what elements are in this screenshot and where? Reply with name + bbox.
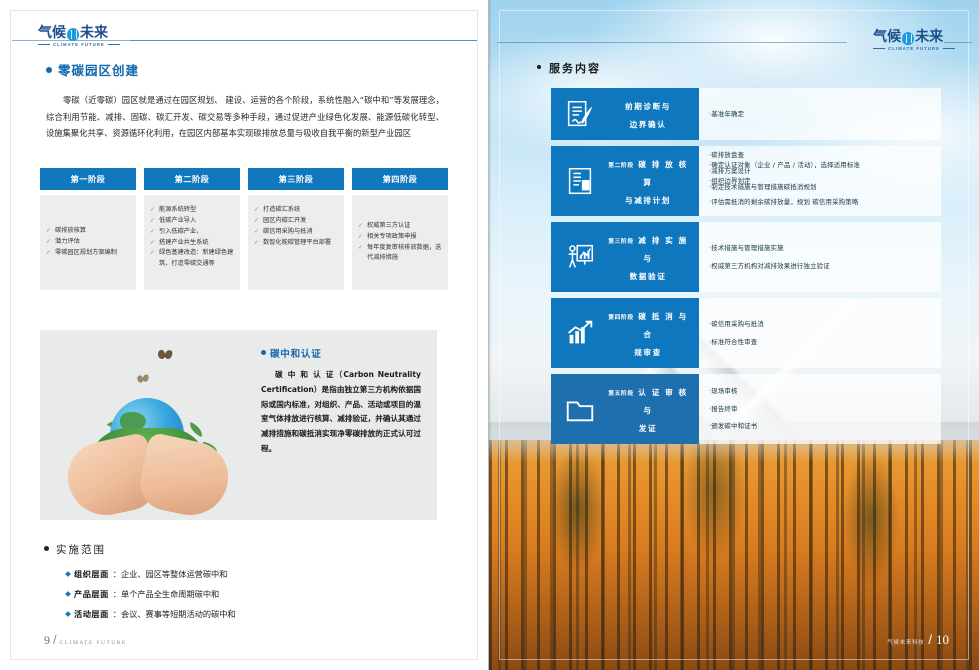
stage-item-text: 碳信用采购与抵消 <box>263 227 313 238</box>
stage-list-item: ✓绿色基建改造：新建绿色建筑、打造零碳交通等 <box>150 248 234 270</box>
process-row-header: 第五阶段 认 证 审 核 与 发证 <box>551 374 699 444</box>
process-stage-label: 第五阶段 <box>608 391 634 397</box>
process-bullet: ·减排方案设计 <box>709 167 931 177</box>
check-icon: ✓ <box>254 205 259 216</box>
stage-item-text: 零碳园区规划方案编制 <box>55 248 117 259</box>
stage-column-3: 第三阶段 ✓打造碳汇系统 ✓园区内碳汇开发 ✓碳信用采购与抵消 ✓数智化能碳管理… <box>248 168 344 290</box>
process-bullet: ·权威第三方机构对减排效果进行独立验证 <box>709 260 931 272</box>
process-row-header: 第二阶段 碳 排 放 核 算 与减排计划 <box>551 146 699 216</box>
logo-mark: 气候 未来 <box>873 30 955 44</box>
scope-list-item: 活动层面：会议、赛事等短期活动的碳中和 <box>66 608 236 620</box>
stage-list-item: ✓潜力评估 <box>46 237 130 248</box>
scope-item-text: ：会议、赛事等短期活动的碳中和 <box>113 608 236 620</box>
right-page: 气候 未来 CLIMATE FUTURE 服务内容 <box>489 0 979 670</box>
stage-item-text: 碳排放核算 <box>55 226 86 237</box>
scope-list: 组织层面：企业、园区等整体运营碳中和 产品层面：单个产品全生命周期碳中和 活动层… <box>66 568 236 628</box>
check-icon: ✓ <box>254 216 259 227</box>
process-bullet: ·现场审核 <box>709 385 931 397</box>
globe-icon <box>67 28 79 41</box>
process-row-labels: 前期诊断与 边界确认 <box>605 96 691 132</box>
page-number: 10 <box>936 632 949 648</box>
check-icon: ✓ <box>46 226 51 237</box>
process-bullet: ·颁发碳中和证书 <box>709 420 931 432</box>
stage-header: 第四阶段 <box>352 168 448 190</box>
check-icon: ✓ <box>150 216 155 227</box>
bullet-dot-icon <box>44 546 49 551</box>
process-row: 第二阶段 碳 排 放 核 算 与减排计划 ·碳排放盘查 ·确定认证对象（企业 /… <box>551 146 941 216</box>
stage-item-text: 相关专项政策申报 <box>367 232 417 243</box>
process-stage-label: 第二阶段 <box>608 163 634 169</box>
process-name-label: 认 证 审 核 与 发证 <box>638 388 688 433</box>
process-list: 前期诊断与 边界确认 ·基准年确定 <box>551 88 941 450</box>
check-icon: ✓ <box>46 237 51 248</box>
process-name-label: 前期诊断与 边界确认 <box>625 102 671 129</box>
bullet-dot-icon <box>46 67 52 73</box>
hands-shape <box>68 424 228 514</box>
right-palm-shape <box>135 432 235 520</box>
carbon-neutrality-title-text: 碳中和认证 <box>270 349 322 360</box>
process-row-header: 第四阶段 碳 抵 消 与 合 规审查 <box>551 298 699 368</box>
stage-item-text: 搭建产业共生系统 <box>159 238 209 249</box>
stage-list-item: ✓相关专项政策申报 <box>358 232 442 243</box>
stage-header: 第二阶段 <box>144 168 240 190</box>
process-bullet: ·碳排放盘查 <box>709 151 931 161</box>
diamond-bullet-icon <box>65 591 71 597</box>
butterfly-icon <box>158 350 172 360</box>
scope-item-text: ：单个产品全生命周期碳中和 <box>113 588 219 600</box>
process-bullet: ·制定技术措施与管理措施碳抵消规划 <box>709 183 931 193</box>
logo-text-cn-b: 未来 <box>915 30 943 44</box>
stage-body: ✓能源系统转型 ✓低碳产业导入 ✓引入低碳产业， ✓搭建产业共生系统 ✓绿色基建… <box>144 195 240 290</box>
stage-columns: 第一阶段 ✓碳排放核算 ✓潜力评估 ✓零碳园区规划方案编制 第二阶段 ✓能源系统… <box>40 168 448 290</box>
process-row-details: ·现场审核 ·报告终审 ·颁发碳中和证书 <box>699 374 941 444</box>
calculator-icon <box>563 164 597 198</box>
scope-list-item: 产品层面：单个产品全生命周期碳中和 <box>66 588 236 600</box>
process-row-details: ·基准年确定 <box>699 88 941 140</box>
header-rule-left-2 <box>130 40 477 41</box>
brand-logo-right: 气候 未来 CLIMATE FUTURE <box>873 30 955 51</box>
logo-mark: 气候 未来 <box>38 26 120 40</box>
stage-list-item: ✓低碳产业导入 <box>150 216 234 227</box>
check-icon: ✓ <box>358 221 363 232</box>
hands-earth-illustration <box>40 330 255 520</box>
process-bullet: ·评估需抵消的剩余碳排放量，规划 碳信用采购策略 <box>709 198 931 208</box>
stage-item-text: 能源系统转型 <box>159 205 196 216</box>
presentation-chart-person-icon <box>563 240 597 274</box>
stage-header: 第一阶段 <box>40 168 136 190</box>
stage-list-item: ✓能源系统转型 <box>150 205 234 216</box>
logo-subtitle-text: CLIMATE FUTURE <box>38 42 120 47</box>
carbon-neutrality-title: 碳中和认证 <box>261 346 421 360</box>
stage-item-text: 潜力评估 <box>55 237 80 248</box>
process-row: 前期诊断与 边界确认 ·基准年确定 <box>551 88 941 140</box>
stage-item-text: 园区内碳汇开发 <box>263 216 306 227</box>
stage-item-text: 数智化能碳管理平台部署 <box>263 238 331 249</box>
stage-item-text: 绿色基建改造：新建绿色建筑、打造零碳交通等 <box>159 248 234 270</box>
stage-list-item: ✓每年度复审核排放数据，迭代减排措施 <box>358 243 442 265</box>
brochure-spread: 气候 未来 CLIMATE FUTURE 零碳园区创建 零碳（近零碳）园区就是通… <box>0 0 979 670</box>
footer-brand-text: CLIMATE FUTURE <box>60 640 127 646</box>
brand-logo-left: 气候 未来 CLIMATE FUTURE <box>38 26 120 47</box>
process-name-label: 减 排 实 施 与 数据验证 <box>630 236 688 281</box>
logo-text-cn-a: 气候 <box>38 26 66 40</box>
page-number: 9 <box>44 633 50 648</box>
process-row: 第五阶段 认 证 审 核 与 发证 ·现场审核 ·报告终审 ·颁发碳中和证书 <box>551 374 941 444</box>
process-name-label: 碳 抵 消 与 合 规审查 <box>634 312 688 357</box>
footer-brand-text: 气候未来科技 <box>887 638 924 646</box>
stage-list-item: ✓权威第三方认证 <box>358 221 442 232</box>
butterfly-icon-2 <box>137 374 149 384</box>
logo-subtitle: CLIMATE FUTURE <box>38 42 120 47</box>
process-row-header: 前期诊断与 边界确认 <box>551 88 699 140</box>
folio-separator: / <box>53 632 57 647</box>
check-icon: ✓ <box>150 248 155 259</box>
stage-body: ✓碳排放核算 ✓潜力评估 ✓零碳园区规划方案编制 <box>40 195 136 290</box>
process-bullet: ·基准年确定 <box>709 108 931 120</box>
stage-item-text: 打造碳汇系统 <box>263 205 300 216</box>
book-spine <box>488 0 491 670</box>
process-row-header: 第三阶段 减 排 实 施 与 数据验证 <box>551 222 699 292</box>
bullet-dot-icon <box>261 350 266 355</box>
logo-text-cn-a: 气候 <box>873 30 901 44</box>
stage-list-item: ✓零碳园区规划方案编制 <box>46 248 130 259</box>
logo-subtitle: CLIMATE FUTURE <box>873 46 955 51</box>
process-row-labels: 第五阶段 认 证 审 核 与 发证 <box>605 382 691 436</box>
scope-title: 实施范围 <box>44 542 106 557</box>
check-icon: ✓ <box>358 243 363 254</box>
scope-item-label: 活动层面 <box>74 608 109 620</box>
page-title: 零碳园区创建 <box>46 60 139 79</box>
stage-item-text: 引入低碳产业， <box>159 227 202 238</box>
process-row: 第三阶段 减 排 实 施 与 数据验证 ·技术措施与管理措施实施 ·权威第三方机… <box>551 222 941 292</box>
page-title-text: 零碳园区创建 <box>58 63 139 78</box>
stage-item-text: 权威第三方认证 <box>367 221 410 232</box>
process-bullet: ·报告终审 <box>709 403 931 415</box>
process-stage-label: 第四阶段 <box>608 315 634 321</box>
carbon-neutrality-body: 碳 中 和 认 证（Carbon Neutrality Certificatio… <box>261 368 421 457</box>
folder-icon <box>563 392 597 426</box>
carbon-neutrality-text: 碳中和认证 碳 中 和 认 证（Carbon Neutrality Certif… <box>255 330 437 520</box>
process-row: 第四阶段 碳 抵 消 与 合 规审查 ·碳信用采购与抵消 ·标准符合性审查 <box>551 298 941 368</box>
stage-list-item: ✓打造碳汇系统 <box>254 205 338 216</box>
process-row-labels: 第二阶段 碳 排 放 核 算 与减排计划 <box>605 154 691 208</box>
check-icon: ✓ <box>150 227 155 238</box>
stage-list-item: ✓搭建产业共生系统 <box>150 238 234 249</box>
page-footer-right: 气候未来科技 / 10 <box>887 632 949 648</box>
scope-list-item: 组织层面：企业、园区等整体运营碳中和 <box>66 568 236 580</box>
scope-title-text: 实施范围 <box>56 544 106 556</box>
check-icon: ✓ <box>358 232 363 243</box>
diamond-bullet-icon <box>65 611 71 617</box>
process-name-label: 碳 排 放 核 算 与减排计划 <box>625 160 688 205</box>
folio-separator: / <box>928 632 932 647</box>
carbon-neutrality-panel: 碳中和认证 碳 中 和 认 证（Carbon Neutrality Certif… <box>40 330 437 520</box>
check-icon: ✓ <box>254 227 259 238</box>
process-row-labels: 第四阶段 碳 抵 消 与 合 规审查 <box>605 306 691 360</box>
process-row-details: ·技术措施与管理措施实施 ·权威第三方机构对减排效果进行独立验证 <box>699 222 941 292</box>
stage-list-item: ✓园区内碳汇开发 <box>254 216 338 227</box>
stage-item-text: 低碳产业导入 <box>159 216 196 227</box>
scope-item-text: ：企业、园区等整体运营碳中和 <box>113 568 228 580</box>
check-icon: ✓ <box>46 248 51 259</box>
process-bullet: ·技术措施与管理措施实施 <box>709 242 931 254</box>
process-bullet: ·碳信用采购与抵消 <box>709 318 931 330</box>
scope-item-label: 组织层面 <box>74 568 109 580</box>
stage-item-text: 每年度复审核排放数据，迭代减排措施 <box>367 243 442 265</box>
process-row-details: ·碳排放盘查 ·确定认证对象（企业 / 产品 / 活动），选择适用标准 ·减排方… <box>699 146 941 216</box>
services-title: 服务内容 <box>537 60 601 76</box>
stage-column-1: 第一阶段 ✓碳排放核算 ✓潜力评估 ✓零碳园区规划方案编制 <box>40 168 136 290</box>
check-icon: ✓ <box>150 205 155 216</box>
diamond-bullet-icon <box>65 571 71 577</box>
stage-body: ✓权威第三方认证 ✓相关专项政策申报 ✓每年度复审核排放数据，迭代减排措施 <box>352 195 448 290</box>
stage-list-item: ✓碳信用采购与抵消 <box>254 227 338 238</box>
services-title-text: 服务内容 <box>549 62 601 75</box>
stage-column-2: 第二阶段 ✓能源系统转型 ✓低碳产业导入 ✓引入低碳产业， ✓搭建产业共生系统 … <box>144 168 240 290</box>
logo-subtitle-text: CLIMATE FUTURE <box>873 46 955 51</box>
stage-header: 第三阶段 <box>248 168 344 190</box>
growth-bar-chart-icon <box>563 316 597 350</box>
logo-text-cn-b: 未来 <box>80 26 108 40</box>
process-row-details: ·碳信用采购与抵消 ·标准符合性审查 <box>699 298 941 368</box>
globe-icon <box>902 32 914 45</box>
bullet-dot-icon <box>537 65 541 69</box>
process-bullet: ·标准符合性审查 <box>709 336 931 348</box>
stage-list-item: ✓引入低碳产业， <box>150 227 234 238</box>
stage-list-item: ✓数智化能碳管理平台部署 <box>254 238 338 249</box>
stage-body: ✓打造碳汇系统 ✓园区内碳汇开发 ✓碳信用采购与抵消 ✓数智化能碳管理平台部署 <box>248 195 344 290</box>
check-icon: ✓ <box>150 238 155 249</box>
scope-item-label: 产品层面 <box>74 588 109 600</box>
check-icon: ✓ <box>254 238 259 249</box>
stage-column-4: 第四阶段 ✓权威第三方认证 ✓相关专项政策申报 ✓每年度复审核排放数据，迭代减排… <box>352 168 448 290</box>
stage-list-item: ✓碳排放核算 <box>46 226 130 237</box>
process-stage-label: 第三阶段 <box>608 239 634 245</box>
left-page: 气候 未来 CLIMATE FUTURE 零碳园区创建 零碳（近零碳）园区就是通… <box>0 0 489 670</box>
process-row-labels: 第三阶段 减 排 实 施 与 数据验证 <box>605 230 691 284</box>
intro-paragraph: 零碳（近零碳）园区就是通过在园区规划、 建设、运营的各个阶段，系统性融入“碳中和… <box>46 92 444 142</box>
document-pen-icon <box>563 97 597 131</box>
page-footer-left: 9 / CLIMATE FUTURE <box>44 632 127 648</box>
header-rule-right <box>497 42 847 43</box>
